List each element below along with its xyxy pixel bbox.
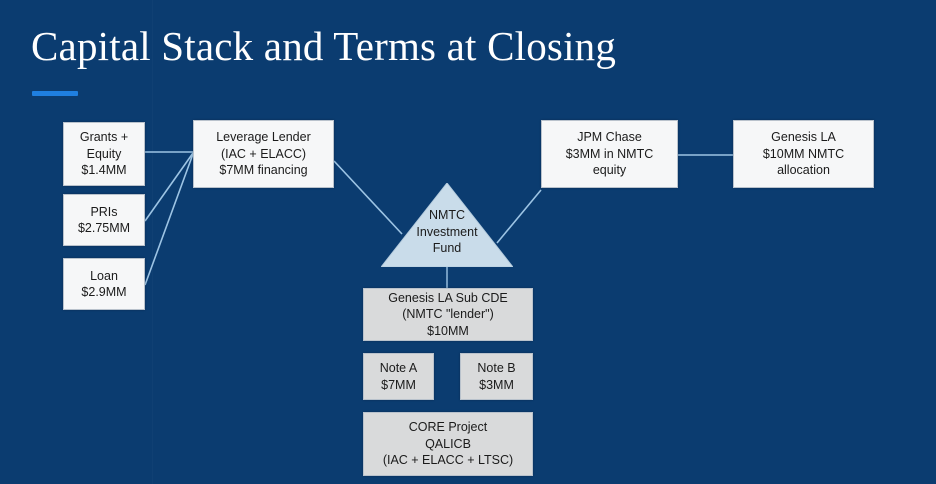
node-loan-label: Loan $2.9MM — [77, 268, 130, 301]
title-accent-bar — [32, 91, 78, 96]
node-note-a[interactable]: Note A $7MM — [363, 353, 434, 400]
node-pris-label: PRIs $2.75MM — [74, 204, 134, 237]
node-jpm-chase-label: JPM Chase $3MM in NMTC equity — [562, 129, 658, 179]
node-note-b[interactable]: Note B $3MM — [460, 353, 533, 400]
slide-canvas: Capital Stack and Terms at Closing NMTC … — [0, 0, 936, 484]
node-genesis-la-allocation[interactable]: Genesis LA $10MM NMTC allocation — [733, 120, 874, 188]
node-loan[interactable]: Loan $2.9MM — [63, 258, 145, 310]
page-title: Capital Stack and Terms at Closing — [31, 22, 616, 70]
node-genesis-la-sub-cde[interactable]: Genesis LA Sub CDE (NMTC "lender") $10MM — [363, 288, 533, 341]
node-leverage-lender-label: Leverage Lender (IAC + ELACC) $7MM finan… — [212, 129, 315, 179]
node-genesis-la-sub-cde-label: Genesis LA Sub CDE (NMTC "lender") $10MM — [384, 290, 512, 340]
compression-seam — [152, 0, 153, 484]
node-note-b-label: Note B $3MM — [473, 360, 519, 393]
node-jpm-chase[interactable]: JPM Chase $3MM in NMTC equity — [541, 120, 678, 188]
nmtc-investment-fund-label: NMTC Investment Fund — [381, 207, 513, 257]
node-genesis-la-allocation-label: Genesis LA $10MM NMTC allocation — [759, 129, 848, 179]
node-core-project-qalicb[interactable]: CORE Project QALICB (IAC + ELACC + LTSC) — [363, 412, 533, 476]
node-core-project-qalicb-label: CORE Project QALICB (IAC + ELACC + LTSC) — [379, 419, 517, 469]
node-note-a-label: Note A $7MM — [376, 360, 422, 393]
node-leverage-lender[interactable]: Leverage Lender (IAC + ELACC) $7MM finan… — [193, 120, 334, 188]
node-grants-equity-label: Grants + Equity $1.4MM — [76, 129, 132, 179]
node-grants-equity[interactable]: Grants + Equity $1.4MM — [63, 122, 145, 186]
node-pris[interactable]: PRIs $2.75MM — [63, 194, 145, 246]
